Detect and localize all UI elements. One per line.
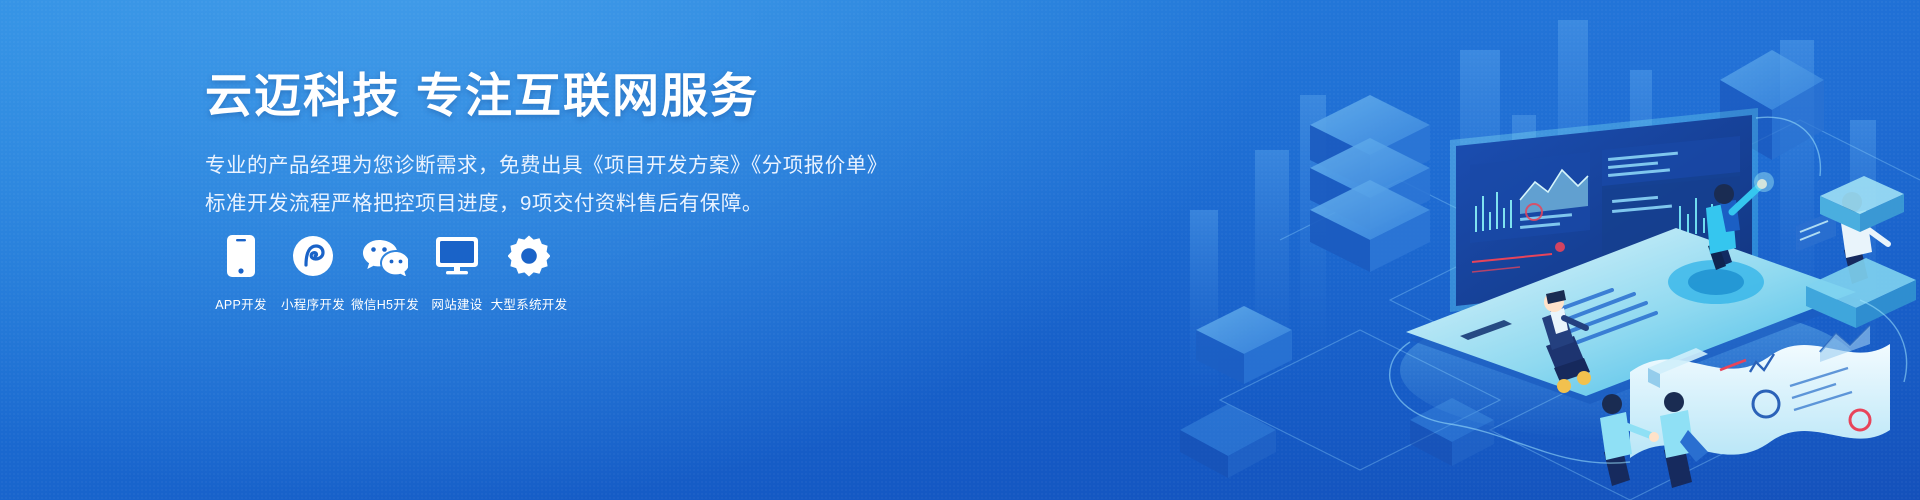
illustration-isometric-tech-scene	[1160, 0, 1920, 500]
gear-icon	[508, 232, 550, 280]
service-item-wechat-h5[interactable]: 微信H5开发	[349, 232, 421, 313]
service-item-mini-program[interactable]: 小程序开发	[277, 232, 349, 313]
monitor-icon	[435, 232, 479, 280]
service-label: 网站建设	[431, 294, 482, 313]
service-list: APP开发 小程序开发 微信	[205, 232, 565, 313]
service-label: APP开发	[215, 294, 267, 313]
service-item-app[interactable]: APP开发	[205, 232, 277, 313]
subtitle-line-1: 专业的产品经理为您诊断需求，免费出具《项目开发方案》《分项报价单》	[205, 148, 905, 184]
mobile-phone-icon	[226, 232, 256, 280]
service-label: 微信H5开发	[351, 294, 419, 313]
copy-block: 云迈科技 专注互联网服务 专业的产品经理为您诊断需求，免费出具《项目开发方案》《…	[205, 70, 905, 221]
service-item-website[interactable]: 网站建设	[421, 232, 493, 313]
mini-program-icon	[292, 232, 334, 280]
service-label: 小程序开发	[281, 294, 345, 313]
service-item-large-system[interactable]: 大型系统开发	[493, 232, 565, 313]
service-label: 大型系统开发	[491, 294, 568, 313]
hero-banner: 云迈科技 专注互联网服务 专业的产品经理为您诊断需求，免费出具《项目开发方案》《…	[0, 0, 1920, 500]
subtitle-line-2: 标准开发流程严格把控项目进度，9项交付资料售后有保障。	[205, 186, 905, 222]
wechat-icon	[362, 232, 408, 280]
page-title: 云迈科技 专注互联网服务	[205, 70, 905, 122]
